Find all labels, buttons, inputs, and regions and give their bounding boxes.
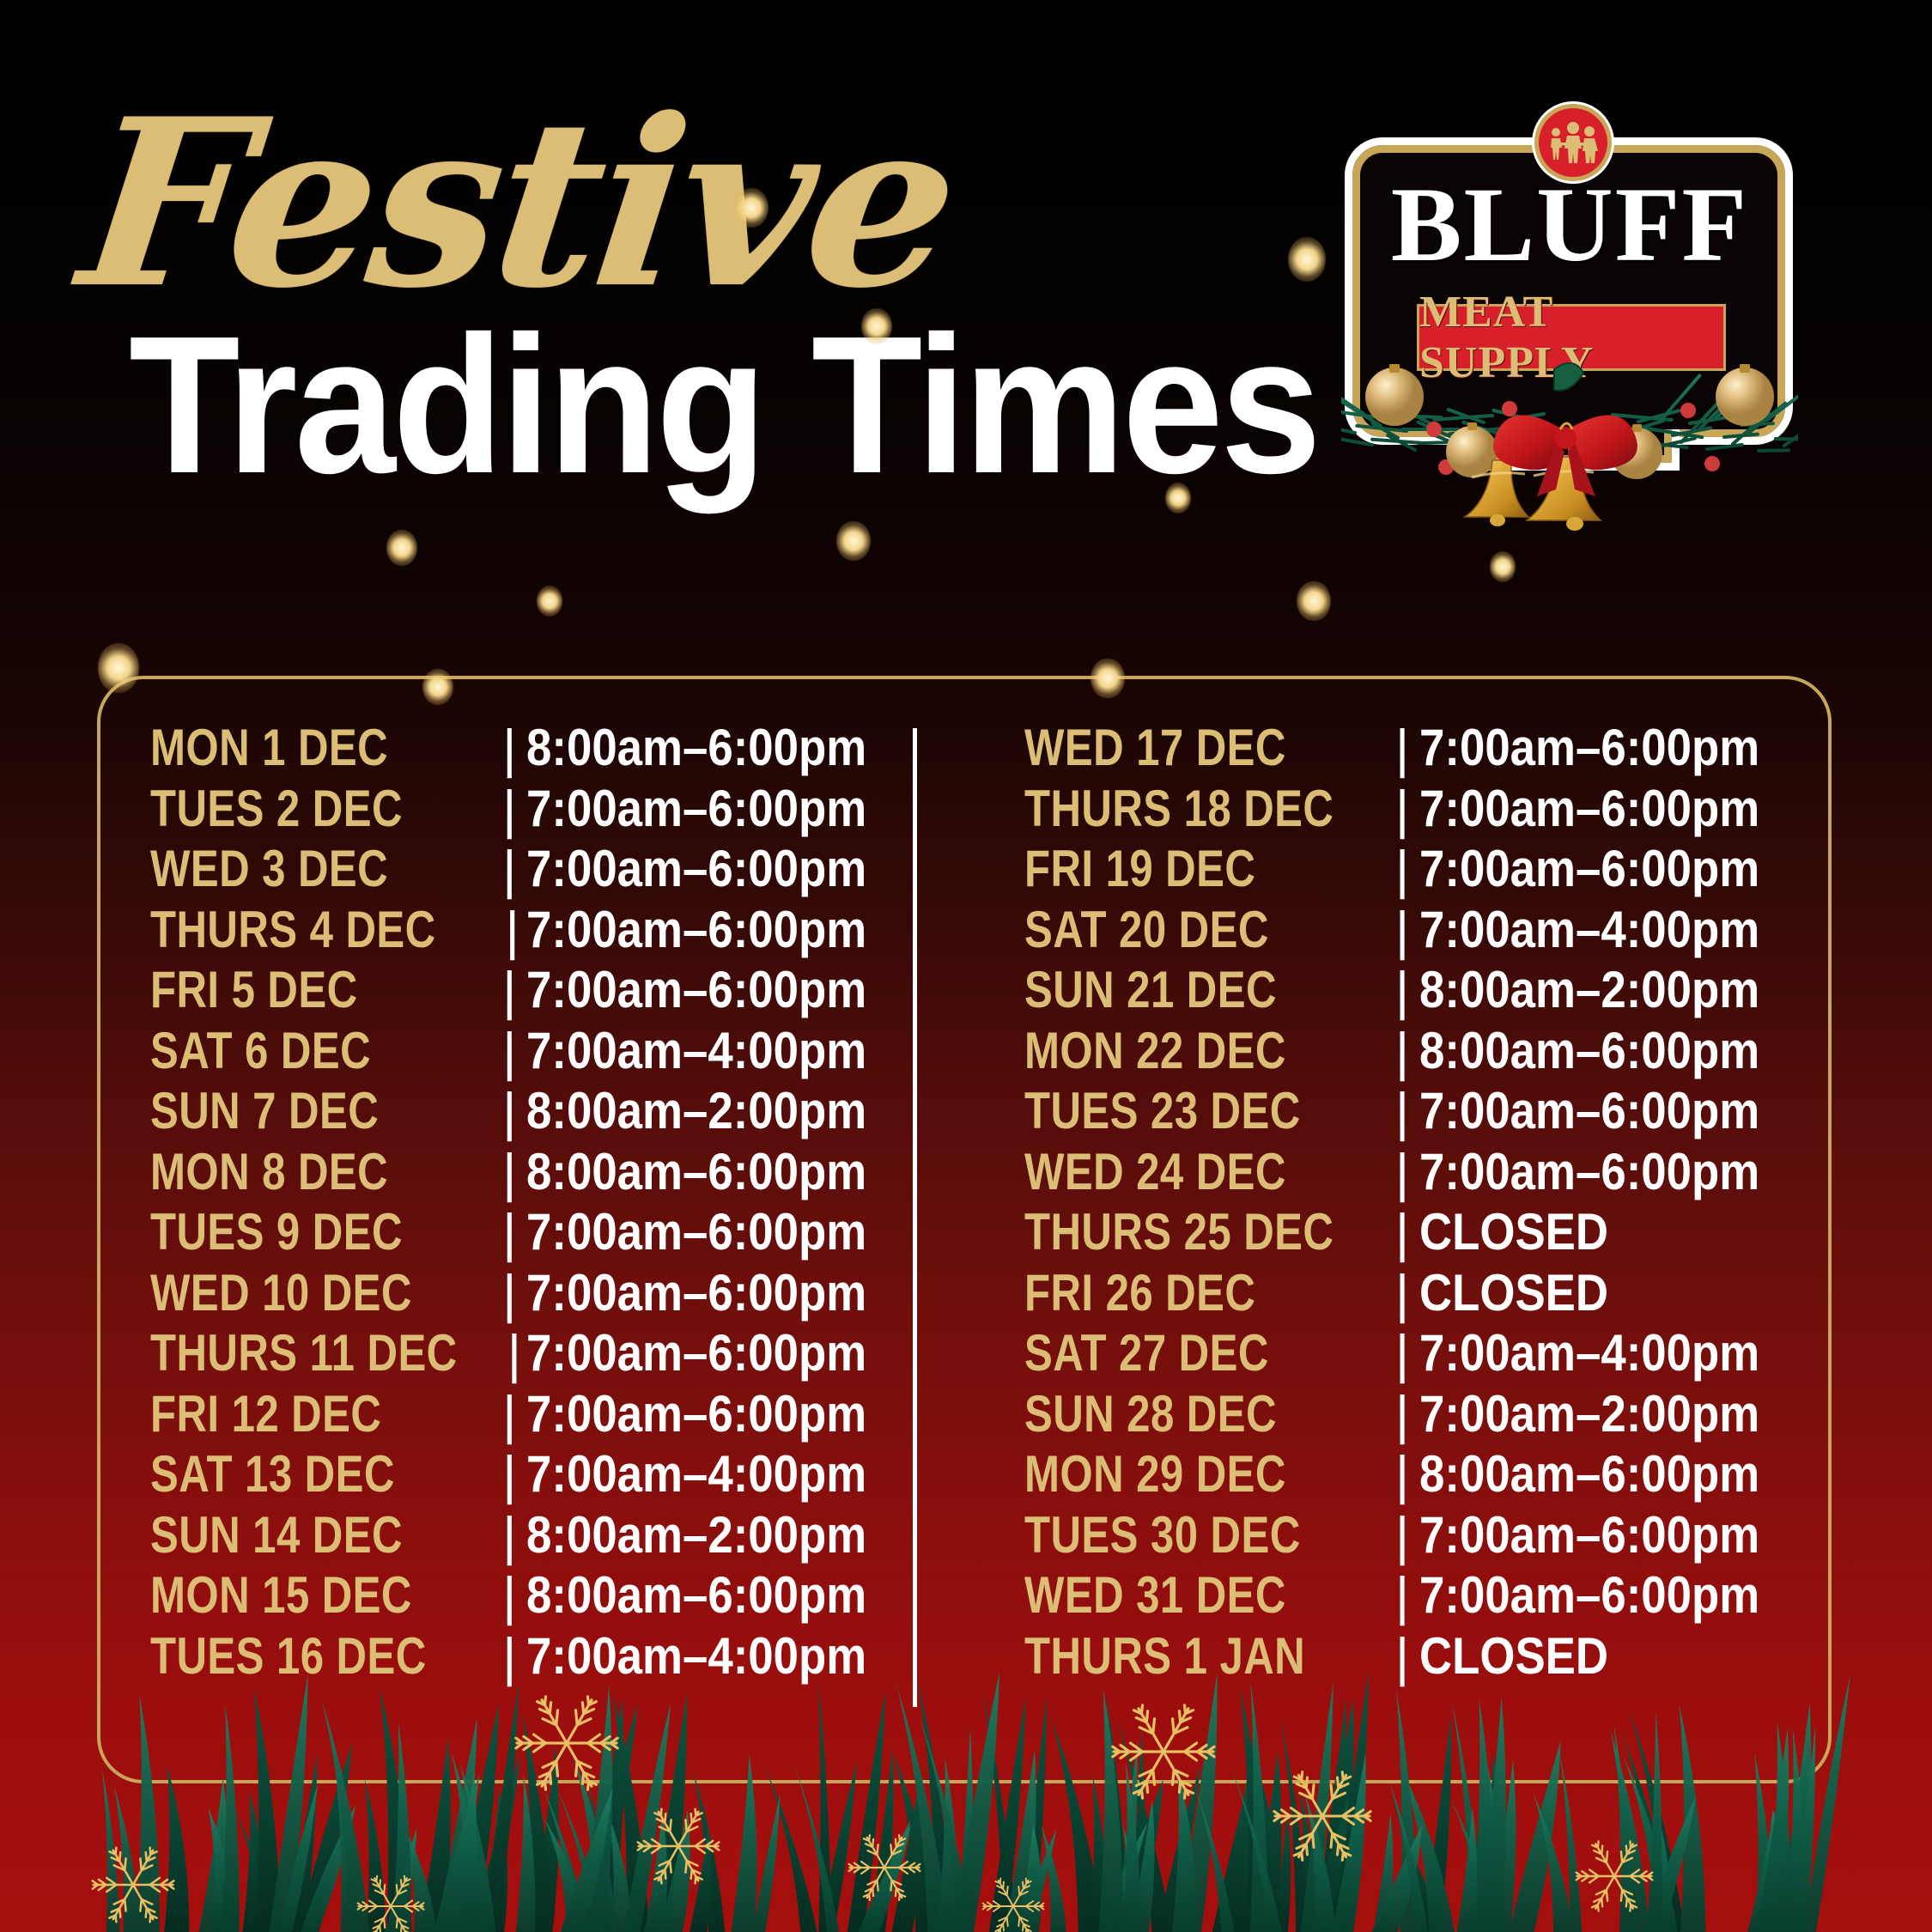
schedule-day: MON 1 DEC	[150, 718, 431, 777]
pine-needle	[1130, 1800, 1154, 1932]
schedule-day: MON 22 DEC	[1024, 1021, 1320, 1080]
pine-needle	[556, 1788, 606, 1932]
pine-needle	[385, 1828, 416, 1932]
pine-needle	[1373, 1814, 1393, 1932]
schedule-day: TUES 23 DEC	[1024, 1081, 1320, 1140]
schedule-row: SUN 21 DEC|8:00am–2:00pm	[1024, 959, 1832, 1020]
pine-needle	[609, 1814, 633, 1932]
schedule-day: WED 24 DEC	[1024, 1142, 1320, 1201]
schedule-column-right: WED 17 DEC|7:00am–6:00pmTHURS 18 DEC|7:0…	[913, 676, 1832, 1783]
schedule-day: THURS 11 DEC	[150, 1323, 439, 1382]
row-separator: |	[493, 1022, 526, 1083]
schedule-hours: 7:00am–6:00pm	[1419, 1081, 1759, 1140]
schedule-row: SAT 20 DEC|7:00am–4:00pm	[1024, 899, 1832, 960]
schedule-hours: 8:00am–2:00pm	[1419, 960, 1759, 1019]
schedule-row: WED 3 DEC|7:00am–6:00pm	[150, 838, 913, 899]
schedule-row: SUN 7 DEC|8:00am–2:00pm	[150, 1080, 913, 1141]
row-separator: |	[1385, 901, 1419, 962]
schedule-row: SAT 27 DEC|7:00am–4:00pm	[1024, 1322, 1832, 1383]
schedule-day: TUES 16 DEC	[150, 1626, 431, 1686]
schedule-hours: 7:00am–6:00pm	[526, 960, 866, 1019]
schedule-day: MON 8 DEC	[150, 1142, 431, 1201]
schedule-day: SAT 27 DEC	[1024, 1323, 1320, 1382]
schedule-hours: 8:00am–6:00pm	[526, 1565, 866, 1625]
pine-needle	[242, 1790, 265, 1932]
row-separator: |	[493, 1082, 526, 1143]
pine-needle	[1451, 1799, 1500, 1932]
row-separator: |	[1385, 1445, 1419, 1506]
row-separator: |	[493, 961, 526, 1022]
schedule-hours: 7:00am–6:00pm	[1419, 1505, 1759, 1564]
pine-needle	[659, 1810, 690, 1932]
schedule-hours: 7:00am–4:00pm	[526, 1444, 866, 1504]
pine-needle	[102, 1769, 120, 1932]
pine-needle	[793, 1761, 840, 1932]
pine-needle	[1457, 1807, 1478, 1932]
pine-needle	[516, 1774, 535, 1932]
row-separator: |	[1385, 719, 1419, 780]
pine-needle	[1534, 1793, 1574, 1932]
row-separator: |	[499, 901, 526, 962]
schedule-hours: 7:00am–6:00pm	[1419, 779, 1759, 838]
pine-needle	[1747, 1809, 1777, 1932]
pine-needle	[442, 1774, 477, 1932]
schedule-day: WED 17 DEC	[1024, 718, 1320, 777]
page-title-script: Festive	[72, 89, 965, 319]
pine-needle	[1122, 1763, 1140, 1932]
schedule-day: THURS 1 JAN	[1024, 1626, 1320, 1686]
pine-needle	[278, 1784, 318, 1932]
row-separator: |	[493, 1627, 526, 1688]
schedule-row: FRI 26 DEC|CLOSED	[1024, 1262, 1832, 1323]
row-separator: |	[1385, 1143, 1419, 1204]
schedule-day: THURS 18 DEC	[1024, 779, 1320, 838]
row-separator: |	[1385, 1324, 1419, 1385]
schedule-row: FRI 12 DEC|7:00am–6:00pm	[150, 1383, 913, 1444]
schedule-hours: 8:00am–6:00pm	[1419, 1444, 1759, 1504]
pine-needle	[762, 1760, 817, 1932]
schedule-row: TUES 30 DEC|7:00am–6:00pm	[1024, 1504, 1832, 1565]
schedule-day: TUES 9 DEC	[150, 1202, 431, 1261]
pine-needle	[819, 1761, 857, 1932]
schedule-hours: 7:00am–6:00pm	[1419, 1142, 1759, 1201]
row-separator: |	[1385, 1082, 1419, 1143]
schedule-row: WED 17 DEC|7:00am–6:00pm	[1024, 717, 1832, 778]
schedule-hours: 7:00am–6:00pm	[526, 900, 866, 959]
pine-needle	[1015, 1824, 1042, 1932]
pine-needle	[1466, 1798, 1484, 1932]
schedule-column-left: MON 1 DEC|8:00am–6:00pmTUES 2 DEC|7:00am…	[97, 676, 913, 1783]
snowflake-icon	[983, 1879, 1044, 1932]
schedule-hours: 7:00am–6:00pm	[526, 1323, 866, 1382]
pine-needle	[1172, 1766, 1196, 1932]
schedule-day: SUN 21 DEC	[1024, 960, 1320, 1019]
pine-needle	[301, 1805, 355, 1932]
pine-needle	[1098, 1822, 1147, 1932]
pine-needle	[543, 1788, 588, 1932]
schedule-day: WED 31 DEC	[1024, 1565, 1320, 1625]
row-separator: |	[1385, 1506, 1419, 1567]
pine-needle	[544, 1818, 590, 1932]
pine-needle	[434, 1773, 479, 1932]
schedule-row: SUN 28 DEC|7:00am–2:00pm	[1024, 1383, 1832, 1444]
pine-needle	[858, 1824, 911, 1932]
pine-needle	[752, 1794, 780, 1932]
row-separator: |	[1385, 961, 1419, 1022]
schedule-row: MON 29 DEC|8:00am–6:00pm	[1024, 1443, 1832, 1504]
pine-needle	[589, 1784, 605, 1932]
snowflake-icon	[1577, 1841, 1653, 1911]
row-separator: |	[493, 719, 526, 780]
pine-needle	[693, 1769, 726, 1932]
pine-needle	[1396, 1824, 1441, 1932]
schedule-hours: CLOSED	[1419, 1263, 1608, 1322]
schedule-day: SUN 7 DEC	[150, 1081, 431, 1140]
schedule-row: MON 15 DEC|8:00am–6:00pm	[150, 1564, 913, 1625]
schedule-columns: MON 1 DEC|8:00am–6:00pmTUES 2 DEC|7:00am…	[97, 676, 1832, 1783]
schedule-row: THURS 25 DEC|CLOSED	[1024, 1201, 1832, 1262]
pine-needle	[1372, 1826, 1422, 1932]
schedule-day: WED 10 DEC	[150, 1263, 431, 1322]
pine-needle	[1212, 1765, 1252, 1932]
row-separator: |	[1385, 780, 1419, 841]
schedule-day: SAT 13 DEC	[150, 1444, 431, 1504]
pine-needle	[1018, 1828, 1057, 1932]
schedule-hours: 7:00am–6:00pm	[1419, 1565, 1759, 1625]
schedule-hours: 7:00am–6:00pm	[1419, 839, 1759, 898]
snowflake-icon	[638, 1809, 720, 1884]
schedule-day: FRI 19 DEC	[1024, 839, 1320, 898]
schedule-hours: 7:00am–6:00pm	[526, 779, 866, 838]
schedule-row: SUN 14 DEC|8:00am–2:00pm	[150, 1504, 913, 1565]
schedule-hours: 7:00am–4:00pm	[526, 1626, 866, 1686]
row-separator: |	[493, 1143, 526, 1204]
schedule-hours: 8:00am–6:00pm	[526, 1142, 866, 1201]
schedule-day: FRI 12 DEC	[150, 1384, 431, 1443]
schedule-hours: CLOSED	[1419, 1202, 1608, 1261]
pine-needle	[861, 1820, 910, 1932]
schedule-day: SAT 6 DEC	[150, 1021, 431, 1080]
row-separator: |	[1385, 1264, 1419, 1325]
pine-needle	[532, 1807, 553, 1932]
schedule-hours: 7:00am–6:00pm	[526, 1384, 866, 1443]
pine-needle	[402, 1822, 437, 1932]
pine-needle	[208, 1807, 237, 1932]
bluff-meat-supply-logo: BLUFF MEAT SUPPLY	[1329, 93, 1810, 539]
schedule-hours: 7:00am–4:00pm	[1419, 1323, 1759, 1382]
schedule-row: TUES 9 DEC|7:00am–6:00pm	[150, 1201, 913, 1262]
row-separator: |	[1385, 840, 1419, 901]
schedule-day: THURS 25 DEC	[1024, 1202, 1320, 1261]
row-separator: |	[493, 1385, 526, 1446]
pine-needle	[114, 1786, 141, 1932]
pine-needle	[1399, 1762, 1455, 1932]
snowflake-icon	[358, 1876, 424, 1932]
pine-needle	[234, 1808, 277, 1932]
schedule-day: TUES 30 DEC	[1024, 1505, 1320, 1564]
schedule-hours: 7:00am–6:00pm	[526, 839, 866, 898]
schedule-hours: 7:00am–6:00pm	[1419, 718, 1759, 777]
schedule-day: THURS 4 DEC	[150, 900, 436, 959]
schedule-row: THURS 4 DEC|7:00am–6:00pm	[150, 899, 913, 960]
row-separator: |	[493, 840, 526, 901]
pine-needle	[1389, 1782, 1428, 1932]
pine-needle	[164, 1765, 189, 1932]
pine-needle	[479, 1789, 507, 1932]
schedule-row: TUES 23 DEC|7:00am–6:00pm	[1024, 1080, 1832, 1141]
pine-needle	[1090, 1774, 1108, 1932]
pine-needle	[1778, 1824, 1795, 1932]
schedule-row: SAT 6 DEC|7:00am–4:00pm	[150, 1020, 913, 1081]
schedule-hours: 8:00am–6:00pm	[526, 718, 866, 777]
logo-brand-name: BLUFF	[1329, 172, 1810, 278]
schedule-hours: 8:00am–2:00pm	[526, 1505, 866, 1564]
schedule-row: TUES 16 DEC|7:00am–4:00pm	[150, 1625, 913, 1686]
row-separator: |	[1385, 1385, 1419, 1446]
schedule-day: SUN 28 DEC	[1024, 1384, 1320, 1443]
pine-needle	[1111, 1814, 1139, 1932]
pine-needle	[644, 1810, 667, 1932]
row-separator: |	[493, 780, 526, 841]
schedule-day: WED 3 DEC	[150, 839, 431, 898]
pine-needle	[1490, 1759, 1516, 1932]
pine-needle	[1753, 1809, 1778, 1932]
schedule-row: THURS 11 DEC|7:00am–6:00pm	[150, 1322, 913, 1383]
schedule-day: SAT 20 DEC	[1024, 900, 1320, 959]
schedule-hours: 7:00am–4:00pm	[526, 1021, 866, 1080]
pine-needle	[573, 1771, 624, 1932]
pine-needle	[892, 1771, 922, 1932]
row-separator: |	[502, 1324, 526, 1385]
pine-needle	[199, 1777, 228, 1932]
pine-needle	[365, 1778, 386, 1932]
row-separator: |	[1385, 1203, 1419, 1264]
row-separator: |	[493, 1445, 526, 1506]
row-separator: |	[493, 1264, 526, 1325]
pine-needle	[1391, 1793, 1431, 1932]
pine-needle	[1109, 1779, 1163, 1932]
row-separator: |	[1385, 1566, 1419, 1627]
schedule-hours: 8:00am–2:00pm	[526, 1081, 866, 1140]
pine-needle	[1304, 1793, 1335, 1932]
festive-trading-times-poster: Festive Trading Times	[0, 0, 1932, 1932]
schedule-day: FRI 5 DEC	[150, 960, 431, 1019]
pine-needle	[459, 1761, 495, 1932]
schedule-day: SUN 14 DEC	[150, 1505, 431, 1564]
row-separator: |	[1385, 1627, 1419, 1688]
schedule-hours: 7:00am–6:00pm	[526, 1263, 866, 1322]
pine-needle	[1464, 1772, 1491, 1932]
pine-needle	[1643, 1816, 1670, 1932]
pine-needle	[1273, 1808, 1291, 1932]
pine-needle	[1157, 1765, 1201, 1932]
christmas-garland-decoration	[1341, 347, 1798, 544]
pine-needle	[1221, 1781, 1252, 1932]
row-separator: |	[493, 1506, 526, 1567]
poster-header: Festive Trading Times	[0, 0, 1932, 601]
schedule-day: MON 15 DEC	[150, 1565, 431, 1625]
pine-needle	[1122, 1825, 1144, 1932]
snowflake-icon	[1274, 1772, 1370, 1861]
schedule-hours: CLOSED	[1419, 1626, 1608, 1686]
schedule-hours: 7:00am–4:00pm	[1419, 900, 1759, 959]
schedule-row: TUES 2 DEC|7:00am–6:00pm	[150, 778, 913, 839]
pine-needle	[1042, 1825, 1066, 1932]
schedule-row: FRI 5 DEC|7:00am–6:00pm	[150, 959, 913, 1020]
schedule-row: MON 8 DEC|8:00am–6:00pm	[150, 1141, 913, 1202]
pine-needle	[1195, 1787, 1235, 1932]
snowflake-icon	[93, 1848, 174, 1923]
schedule-hours: 8:00am–6:00pm	[1419, 1021, 1759, 1080]
page-title: Trading Times	[129, 307, 1318, 503]
row-separator: |	[493, 1566, 526, 1627]
schedule-row: MON 22 DEC|8:00am–6:00pm	[1024, 1020, 1832, 1081]
schedule-row: THURS 18 DEC|7:00am–6:00pm	[1024, 778, 1832, 839]
schedule-hours: 7:00am–6:00pm	[526, 1202, 866, 1261]
schedule-row: WED 10 DEC|7:00am–6:00pm	[150, 1262, 913, 1323]
schedule-row: WED 31 DEC|7:00am–6:00pm	[1024, 1564, 1832, 1625]
pine-needle	[561, 1788, 613, 1932]
pine-needle	[690, 1828, 711, 1932]
pine-needle	[1644, 1795, 1697, 1932]
pine-needle	[1230, 1764, 1283, 1932]
schedule-row: THURS 1 JAN|CLOSED	[1024, 1625, 1832, 1686]
row-separator: |	[493, 1203, 526, 1264]
schedule-row: MON 1 DEC|8:00am–6:00pm	[150, 717, 913, 778]
pine-needle	[1299, 1789, 1319, 1932]
schedule-day: TUES 2 DEC	[150, 779, 431, 838]
schedule-row: WED 24 DEC|7:00am–6:00pm	[1024, 1141, 1832, 1202]
pine-needle	[1254, 1759, 1281, 1932]
schedule-hours: 7:00am–2:00pm	[1419, 1384, 1759, 1443]
schedule-day: MON 29 DEC	[1024, 1444, 1320, 1504]
snowflake-icon	[849, 1835, 920, 1900]
row-separator: |	[1385, 1022, 1419, 1083]
schedule-row: FRI 19 DEC|7:00am–6:00pm	[1024, 838, 1832, 899]
schedule-row: SAT 13 DEC|7:00am–4:00pm	[150, 1443, 913, 1504]
schedule-day: FRI 26 DEC	[1024, 1263, 1320, 1322]
pine-needle	[1305, 1797, 1348, 1932]
